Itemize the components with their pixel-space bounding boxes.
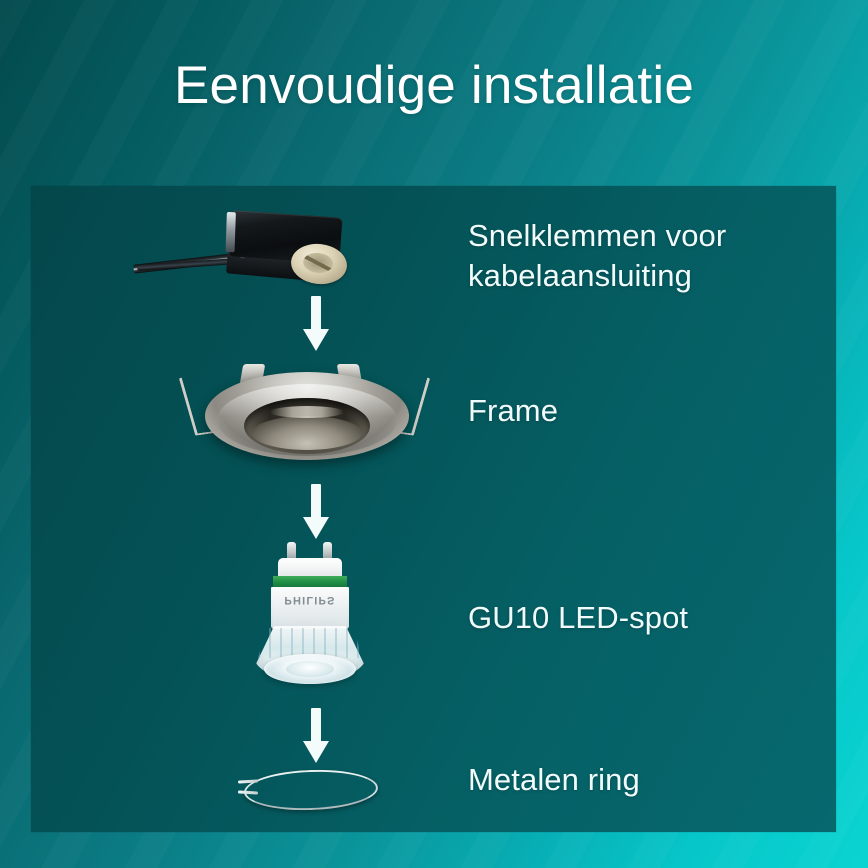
step-row-2: Frame (31, 346, 836, 526)
arrow-frame-to-bulb (299, 484, 333, 540)
diagram-panel: Snelklemmen voor kabelaansluiting Frame (31, 186, 836, 832)
bulb-iridescent-sheen (273, 587, 347, 627)
step-label-2: Frame (468, 391, 558, 431)
step-label-4: Metalen ring (468, 760, 640, 800)
metal-ring-image (230, 758, 390, 818)
arrow-shaft (311, 296, 321, 332)
arrow-shaft (311, 708, 321, 744)
metal-ring-body (243, 768, 378, 813)
arrow-shaft (311, 484, 321, 520)
bulb-brand-text: PHILIPS (271, 594, 349, 606)
step-label-1: Snelklemmen voor kabelaansluiting (468, 216, 726, 297)
frame-inner-aperture (244, 398, 370, 454)
installation-diagram-graphic: Eenvoudige installatie Snelklemmen voor … (0, 0, 868, 868)
step-row-1: Snelklemmen voor kabelaansluiting (31, 186, 836, 356)
terminal-block-connector-image (131, 200, 361, 300)
gu10-led-spot-image: PHILIPS (240, 536, 380, 686)
step-label-3: GU10 LED-spot (468, 598, 688, 638)
downlight-frame-image (181, 346, 431, 476)
metal-ring-tip-lower (238, 790, 258, 794)
step-row-3: PHILIPS GU10 LED-spot (31, 536, 836, 736)
step-row-4: Metalen ring (31, 756, 836, 832)
page-title: Eenvoudige installatie (0, 56, 868, 115)
bulb-lens (264, 654, 356, 684)
arrow-connector-to-frame (299, 296, 333, 352)
